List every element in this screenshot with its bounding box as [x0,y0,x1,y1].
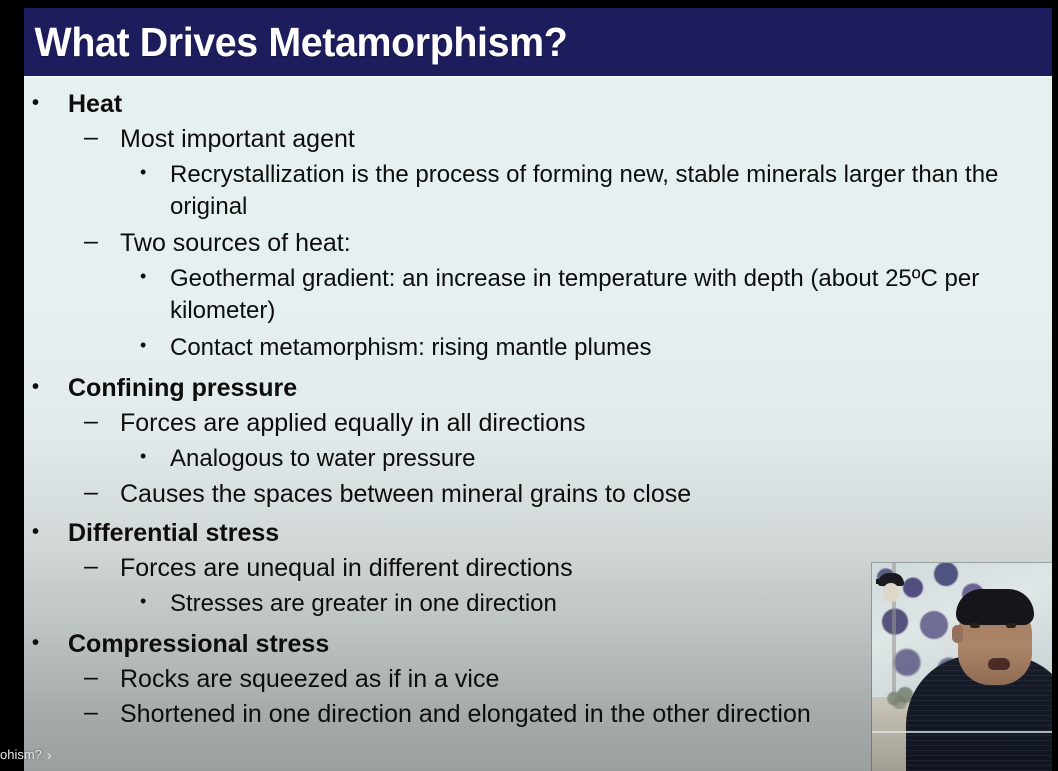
bullet-text: Causes the spaces between mineral grains… [120,480,1052,509]
bullet-text: Geothermal gradient: an increase in temp… [170,263,1052,327]
bullet-level3: • Recrystallization is the process of fo… [30,159,1052,223]
bullet-marker-icon: • [140,332,170,354]
bullet-text: Differential stress [68,519,1052,548]
presenter-eye-right [1006,623,1016,628]
letterbox-top [0,0,1058,8]
bullet-level1: • Differential stress [30,519,1052,548]
presenter-video-thumbnail[interactable] [872,563,1052,771]
bullet-level2: – Causes the spaces between mineral grai… [30,480,1052,509]
dash-marker-icon: – [84,409,120,434]
slide-edge-line [872,731,1052,733]
presenter-eye-left [970,623,980,628]
screen-recording-frame: What Drives Metamorphism? • Heat – Most … [0,0,1058,771]
breadcrumb-label[interactable]: ohism? [0,747,42,762]
dash-marker-icon: – [84,665,120,690]
letterbox-right [1052,0,1058,771]
bullet-level1: • Confining pressure [30,374,1052,403]
presenter-hair [956,589,1034,625]
bullet-text: Recrystallization is the process of form… [170,159,1052,223]
dash-marker-icon: – [84,554,120,579]
dash-marker-icon: – [84,480,120,505]
bullet-marker-icon: • [140,443,170,465]
bullet-marker-icon: • [140,588,170,610]
video-lamp [876,569,906,609]
bullet-level1: • Heat [30,90,1052,119]
bullet-text: Confining pressure [68,374,1052,403]
bullet-text: Forces are applied equally in all direct… [120,409,1052,438]
bullet-level2: – Forces are applied equally in all dire… [30,409,1052,438]
presenter-ear [952,625,963,643]
dash-marker-icon: – [84,700,120,725]
breadcrumb[interactable]: ohism? › [0,738,52,771]
bullet-level3: • Analogous to water pressure [30,443,1052,475]
bullet-text: Analogous to water pressure [170,443,1052,475]
bullet-marker-icon: • [32,374,68,397]
title-divider [24,76,1052,78]
bullet-text: Most important agent [120,125,1052,154]
bullet-marker-icon: • [140,263,170,285]
bullet-level2: – Two sources of heat: [30,229,1052,258]
bullet-level3: • Contact metamorphism: rising mantle pl… [30,332,1052,364]
chevron-right-icon: › [47,747,52,763]
bullet-level2: – Most important agent [30,125,1052,154]
letterbox-left [0,0,24,771]
dash-marker-icon: – [84,229,120,254]
bullet-level3: • Geothermal gradient: an increase in te… [30,263,1052,327]
presenter-mouth [988,658,1010,670]
bullet-marker-icon: • [32,90,68,113]
bullet-marker-icon: • [32,630,68,653]
dash-marker-icon: – [84,125,120,150]
bullet-marker-icon: • [140,159,170,181]
bullet-marker-icon: • [32,519,68,542]
bullet-text: Contact metamorphism: rising mantle plum… [170,332,1052,364]
bullet-text: Two sources of heat: [120,229,1052,258]
page-title: What Drives Metamorphism? [24,19,567,66]
slide-title-bar: What Drives Metamorphism? [24,8,1052,76]
bullet-text: Heat [68,90,1052,119]
